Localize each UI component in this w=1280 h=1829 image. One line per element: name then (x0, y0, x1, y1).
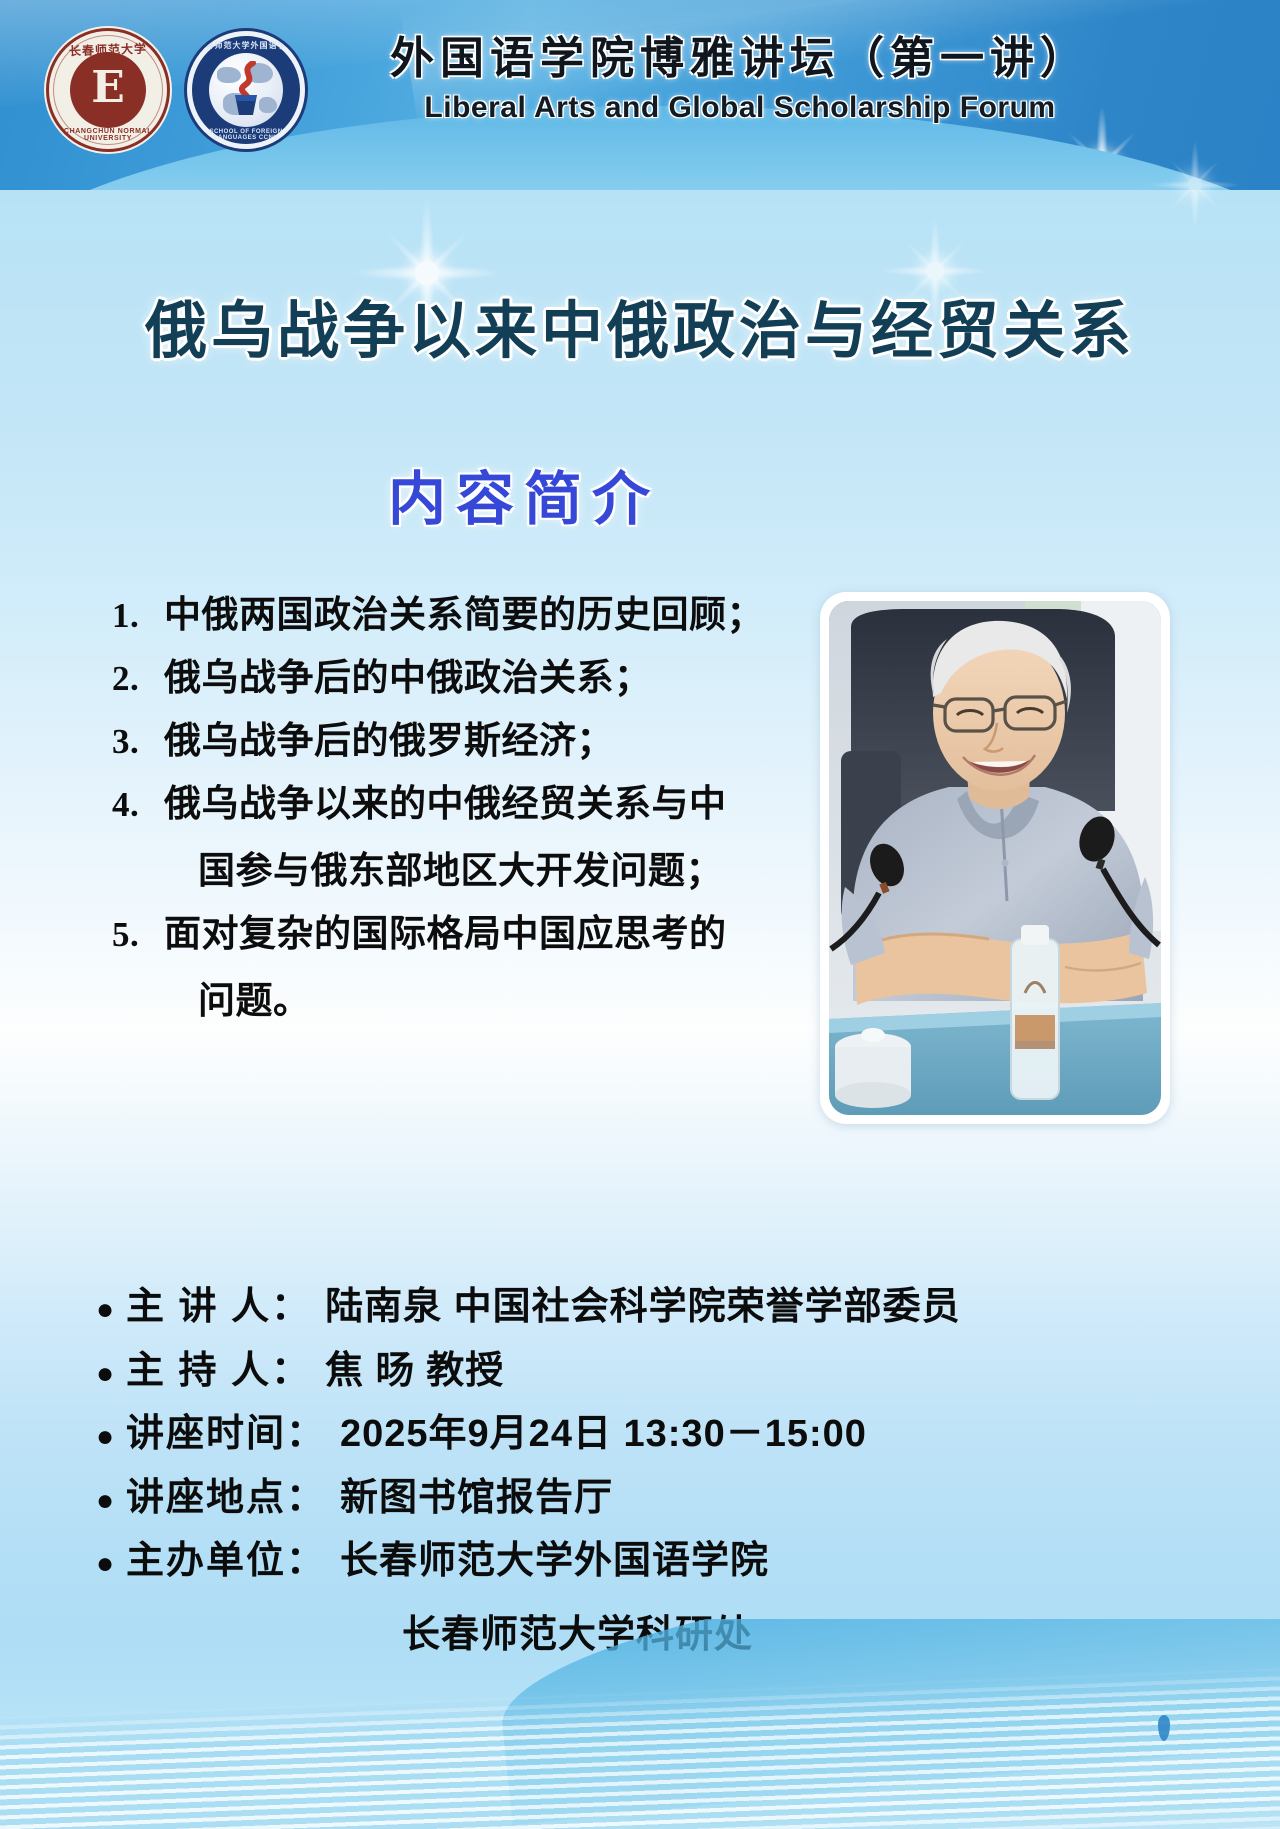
list-item: 3. 俄乌战争后的俄罗斯经济； (112, 722, 812, 759)
agenda-text: 面对复杂的国际格局中国应思考的 问题。 (164, 915, 812, 1019)
agenda-number: 3. (112, 722, 164, 759)
detail-row-organizer: ● 主办单位： 长春师范大学外国语学院 (96, 1539, 1196, 1585)
logo-school-name-en: SCHOOL OF FOREIGN LANGUAGES CCNU (187, 129, 305, 141)
detail-label-host: 主 持 人： (126, 1349, 311, 1395)
logo-group: 长春师范大学 E CHANGCHUN NORMAL UNIVERSITY (46, 28, 308, 152)
flame-book-icon (223, 61, 269, 119)
agenda-number: 1. (112, 596, 164, 633)
list-item: 2. 俄乌战争后的中俄政治关系； (112, 659, 812, 696)
lecture-title: 俄乌战争以来中俄政治与经贸关系 (0, 280, 1280, 370)
detail-value-location: 新图书馆报告厅 (340, 1476, 613, 1522)
section-heading-content-summary: 内容简介 (0, 452, 1164, 536)
agenda-number: 4. (112, 785, 164, 822)
detail-value-organizer: 长春师范大学外国语学院 (340, 1539, 769, 1585)
agenda-text: 中俄两国政治关系简要的历史回顾； (164, 596, 812, 633)
logo-university-name-en: CHANGCHUN NORMAL UNIVERSITY (49, 128, 167, 142)
logo-school-name-cn: 长春师范大学外国语学院 (187, 40, 305, 51)
agenda-text: 俄乌战争以来的中俄经贸关系与中 国参与俄东部地区大开发问题； (164, 785, 812, 889)
lecture-details: ● 主 讲 人： 陆南泉 中国社会科学院荣誉学部委员 ● 主 持 人： 焦 旸 … (96, 1285, 1196, 1658)
agenda-list: 1. 中俄两国政治关系简要的历史回顾； 2. 俄乌战争后的中俄政治关系； 3. … (112, 596, 812, 1045)
forum-title-block: 外国语学院博雅讲坛（第一讲） Liberal Arts and Global S… (380, 34, 1100, 125)
list-item: 1. 中俄两国政治关系简要的历史回顾； (112, 596, 812, 633)
detail-row-host: ● 主 持 人： 焦 旸 教授 (96, 1349, 1196, 1395)
speaker-photo-illustration (829, 601, 1161, 1115)
detail-row-time: ● 讲座时间： 2025年9月24日 13:30－15:00 (96, 1412, 1196, 1458)
bullet-icon: ● (96, 1549, 126, 1579)
detail-label-speaker: 主 讲 人： (126, 1285, 311, 1331)
list-item: 4. 俄乌战争以来的中俄经贸关系与中 国参与俄东部地区大开发问题； (112, 785, 812, 889)
logo-university-glyph: E (91, 66, 125, 110)
poster-header: 长春师范大学 E CHANGCHUN NORMAL UNIVERSITY (0, 0, 1280, 190)
detail-value-speaker: 陆南泉 中国社会科学院荣誉学部委员 (325, 1285, 961, 1331)
footer-wave-decoration (0, 1619, 1280, 1829)
poster-root: 长春师范大学 E CHANGCHUN NORMAL UNIVERSITY (0, 0, 1280, 1829)
school-of-foreign-languages-logo: 长春师范大学外国语学院 SCHOOL OF FOREIGN LANGUAGES … (184, 28, 308, 152)
bullet-icon: ● (96, 1359, 126, 1389)
forum-title-cn: 外国语学院博雅讲坛（第一讲） (380, 34, 1100, 85)
bullet-icon: ● (96, 1295, 126, 1325)
agenda-number: 2. (112, 659, 164, 696)
detail-label-location: 讲座地点： (126, 1476, 326, 1522)
detail-row-speaker: ● 主 讲 人： 陆南泉 中国社会科学院荣誉学部委员 (96, 1285, 1196, 1331)
speaker-photo-frame (820, 592, 1170, 1124)
forum-title-en: Liberal Arts and Global Scholarship Foru… (380, 91, 1100, 125)
detail-value-time: 2025年9月24日 13:30－15:00 (340, 1412, 867, 1458)
detail-row-location: ● 讲座地点： 新图书馆报告厅 (96, 1476, 1196, 1522)
bullet-icon: ● (96, 1422, 126, 1452)
detail-value-host: 焦 旸 教授 (325, 1349, 504, 1395)
speaker-photo (829, 601, 1161, 1115)
detail-label-organizer: 主办单位： (126, 1539, 326, 1585)
logo-university-emblem: E (70, 52, 146, 128)
list-item: 5. 面对复杂的国际格局中国应思考的 问题。 (112, 915, 812, 1019)
agenda-number: 5. (112, 915, 164, 952)
agenda-text: 俄乌战争后的俄罗斯经济； (164, 722, 812, 759)
agenda-text: 俄乌战争后的中俄政治关系； (164, 659, 812, 696)
detail-label-time: 讲座时间： (126, 1412, 326, 1458)
changchun-normal-university-logo: 长春师范大学 E CHANGCHUN NORMAL UNIVERSITY (46, 28, 170, 152)
bullet-icon: ● (96, 1486, 126, 1516)
